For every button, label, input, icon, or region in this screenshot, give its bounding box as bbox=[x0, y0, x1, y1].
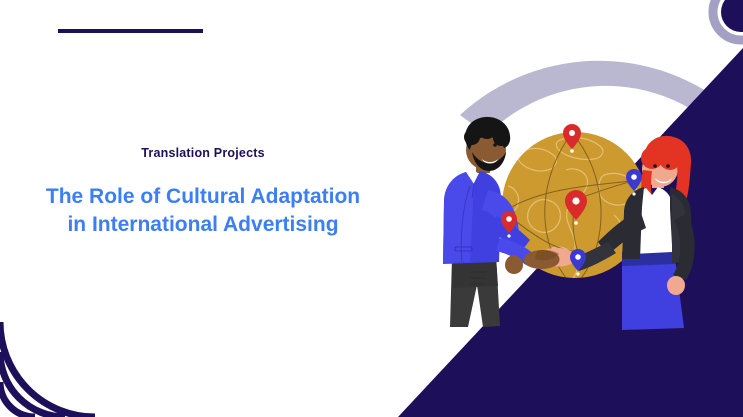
presentation-slide: Translation Projects The Role of Cultura… bbox=[0, 0, 743, 417]
title-text-block: Translation Projects The Role of Cultura… bbox=[36, 146, 370, 240]
handshake-over-globe-illustration bbox=[430, 95, 710, 340]
slide-headline: The Role of Cultural Adaptation in Inter… bbox=[36, 183, 370, 240]
slide-kicker: Translation Projects bbox=[36, 146, 370, 161]
top-left-rule bbox=[58, 29, 203, 33]
